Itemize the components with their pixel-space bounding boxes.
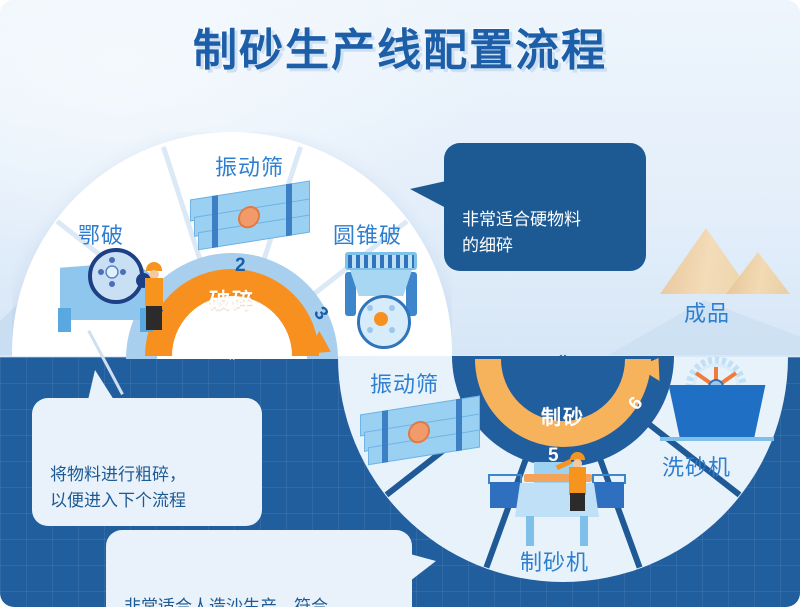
- callout-tail: [410, 554, 436, 581]
- sand-making-machine-icon: [515, 483, 599, 517]
- equipment-label-sand-washer: 洗砂机: [662, 450, 731, 482]
- product-label: 成品: [684, 296, 730, 328]
- callout-cone-note: 非常适合硬物料 的细碎: [444, 143, 646, 271]
- worker-legs: [570, 493, 585, 511]
- infographic-canvas: 制砂生产线配置流程 成品 破碎 1 2 3: [0, 0, 800, 607]
- crushing-arch-label: 破碎: [145, 285, 319, 315]
- step-number-2: 2: [235, 255, 246, 277]
- callout-text: 非常适合人造沙生产，符合 建筑用砂标准: [124, 597, 328, 607]
- sand-washer-base: [660, 437, 774, 441]
- equipment-label-cone-crusher: 圆锥破: [333, 218, 402, 250]
- worker-body: [145, 278, 163, 308]
- crushing-arch: 破碎: [145, 269, 319, 356]
- callout-text: 非常适合硬物料 的细碎: [462, 210, 581, 255]
- jaw-crusher-pulley: [88, 248, 144, 304]
- cone-crusher-teeth: [348, 255, 414, 268]
- equipment-label-jaw-crusher: 鄂破: [78, 218, 124, 250]
- equipment-label-sand-making-machine: 制砂机: [520, 545, 589, 577]
- callout-text: 将物料进行粗碎， 以便进入下个流程: [50, 465, 186, 510]
- page-title: 制砂生产线配置流程: [0, 14, 800, 78]
- callout-jaw-note: 将物料进行粗碎， 以便进入下个流程: [32, 398, 262, 526]
- sand-maker-platform: [594, 482, 624, 508]
- sand-making-arch-label: 制砂: [475, 401, 651, 430]
- cone-crusher-hub: [374, 312, 388, 326]
- callout-tail: [410, 181, 446, 208]
- sand-maker-legs: [526, 516, 588, 546]
- worker-body: [569, 467, 586, 495]
- sand-washer-icon: [662, 385, 772, 437]
- callout-tail: [88, 370, 114, 400]
- cone-crusher-body: [350, 270, 412, 296]
- page-title-text: 制砂生产线配置流程: [193, 14, 607, 78]
- worker-legs: [146, 306, 162, 330]
- jaw-crusher-leg: [58, 308, 71, 332]
- sand-making-arch: 制砂: [475, 359, 651, 447]
- callout-sand-note: 非常适合人造沙生产，符合 建筑用砂标准: [106, 530, 412, 607]
- equipment-label-vibrating-screen-1: 振动筛: [215, 150, 284, 182]
- equipment-label-vibrating-screen-2: 振动筛: [370, 367, 439, 399]
- sand-maker-platform: [490, 482, 520, 508]
